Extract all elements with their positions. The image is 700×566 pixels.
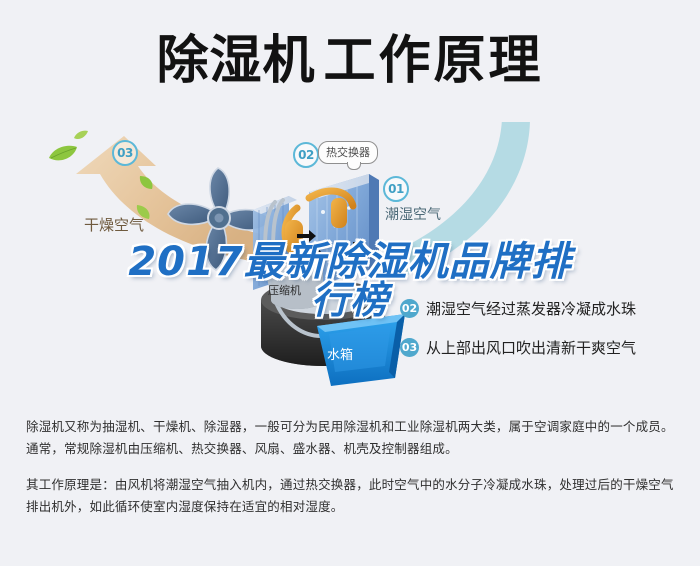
- label-dry-air: 干燥空气: [84, 214, 144, 235]
- badge-02: 02: [293, 142, 319, 168]
- label-moist-air: 潮湿空气: [385, 204, 441, 224]
- body-copy: 除湿机又称为抽湿机、干燥机、除湿器，一般可分为民用除湿机和工业除湿机两大类，属于…: [26, 416, 678, 532]
- paragraph-principle: 其工作原理是：由风机将潮湿空气抽入机内，通过热交换器，此时空气中的水分子冷凝成水…: [26, 474, 678, 518]
- list-item: 02 潮湿空气经过蒸发器冷凝成水珠: [400, 298, 695, 319]
- label-compressor: 压缩机: [268, 282, 301, 298]
- title-part-1: 除湿机: [156, 31, 315, 91]
- step-number-badge: 03: [400, 338, 419, 357]
- infographic-page: 除湿机工作原理: [0, 0, 700, 566]
- callout-heat-exchanger: 热交换器: [318, 141, 378, 164]
- list-item: 03 从上部出风口吹出清新干爽空气: [400, 337, 695, 358]
- badge-03: 03: [112, 140, 138, 166]
- page-title: 除湿机工作原理: [0, 0, 700, 122]
- label-water-tank: 水箱: [327, 344, 353, 363]
- title-text: 除湿机工作原理: [156, 35, 543, 87]
- step-text: 潮湿空气经过蒸发器冷凝成水珠: [426, 298, 636, 319]
- steps-list: 02 潮湿空气经过蒸发器冷凝成水珠 03 从上部出风口吹出清新干爽空气: [400, 298, 695, 376]
- badge-01: 01: [383, 176, 409, 202]
- leaf-icon: [138, 174, 154, 190]
- step-text: 从上部出风口吹出清新干爽空气: [426, 337, 636, 358]
- paragraph-definition: 除湿机又称为抽湿机、干燥机、除湿器，一般可分为民用除湿机和工业除湿机两大类，属于…: [26, 416, 678, 460]
- leaf-icon: [48, 144, 78, 164]
- step-number-badge: 02: [400, 299, 419, 318]
- leaf-icon: [74, 130, 88, 141]
- title-part-2: 工作原理: [324, 31, 544, 91]
